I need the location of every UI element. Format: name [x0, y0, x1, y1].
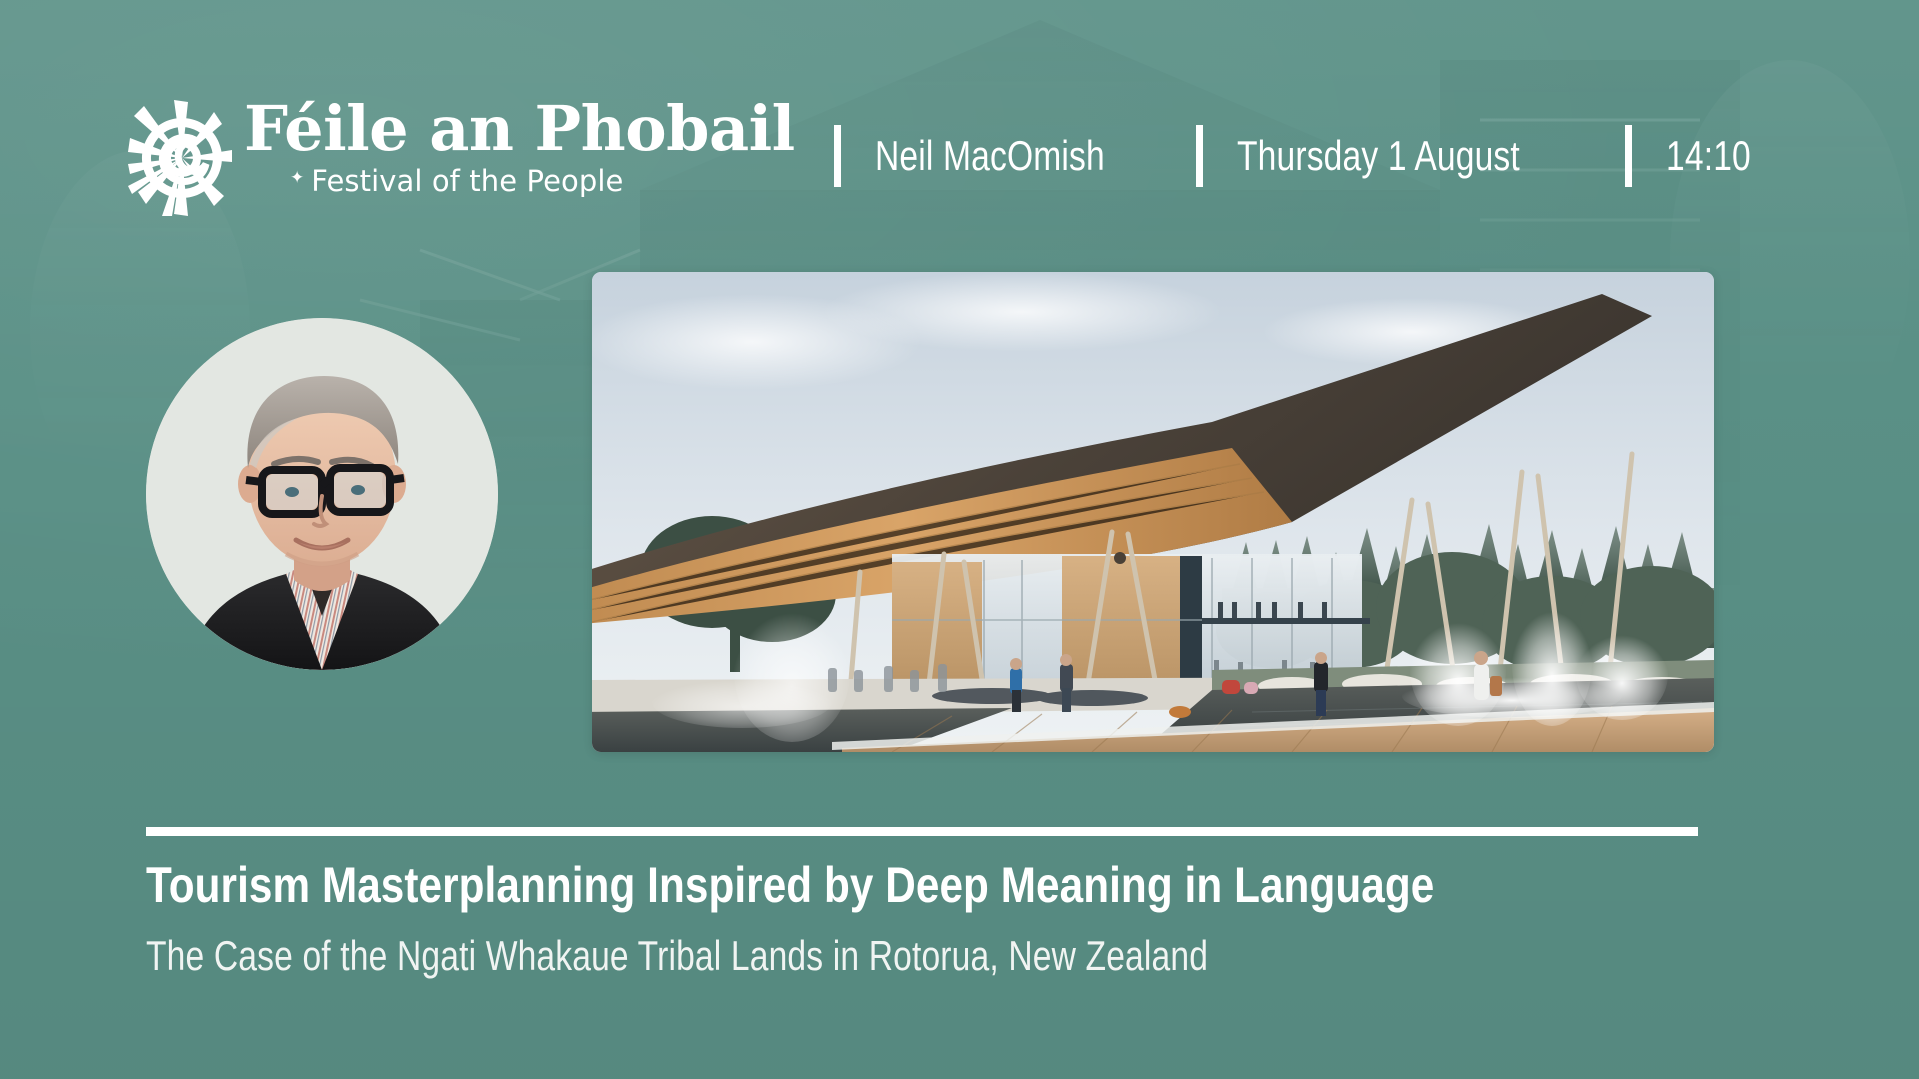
title-divider-rule	[146, 827, 1698, 836]
slide-header: Féile an Phobail ✦ Festival of the Peopl…	[0, 0, 1919, 250]
talk-title: Tourism Masterplanning Inspired by Deep …	[146, 857, 1583, 913]
speaker-name: Neil MacOmish	[875, 135, 1105, 177]
session-time: 14:10	[1666, 135, 1751, 177]
festival-name: Féile an Phobail	[244, 98, 795, 160]
meta-divider-2	[1196, 125, 1203, 187]
project-render-image	[592, 272, 1714, 752]
session-meta: Neil MacOmish Thursday 1 August 14:10	[800, 124, 1772, 188]
speaker-portrait-illustration	[146, 318, 498, 670]
meta-divider-3	[1625, 125, 1632, 187]
festival-logo-wordmark: Féile an Phobail ✦ Festival of the Peopl…	[244, 98, 795, 196]
architectural-render-illustration	[592, 272, 1714, 752]
session-date: Thursday 1 August	[1237, 135, 1520, 177]
festival-tagline: Festival of the People	[311, 167, 623, 196]
talk-subtitle: The Case of the Ngati Whakaue Tribal Lan…	[146, 932, 1506, 980]
meta-divider-1	[834, 125, 841, 187]
sparkle-icon: ✦	[290, 169, 304, 186]
presentation-slide: Féile an Phobail ✦ Festival of the Peopl…	[0, 0, 1919, 1079]
festival-logo[interactable]: Féile an Phobail ✦ Festival of the Peopl…	[128, 92, 795, 218]
sunburst-spiral-logo-icon	[128, 98, 240, 218]
speaker-avatar	[146, 318, 498, 670]
